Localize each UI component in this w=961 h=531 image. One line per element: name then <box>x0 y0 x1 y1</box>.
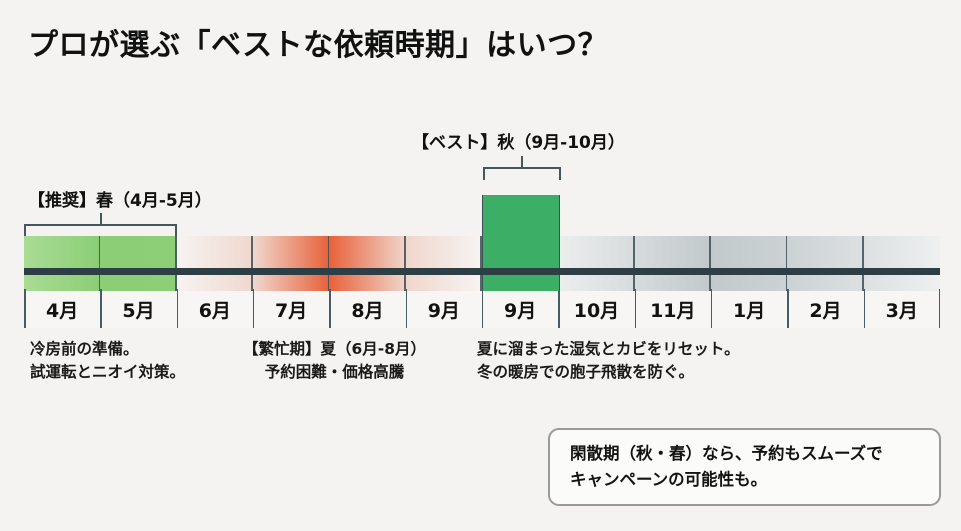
month-cell-aug: 8月 <box>329 291 405 328</box>
band-cell-jun <box>177 236 253 291</box>
band-cell-nov <box>635 236 711 291</box>
month-cell-sep-summer: 9月 <box>406 291 482 328</box>
summer-note-line1: 【繁忙期】夏（6月-8月） <box>243 338 426 361</box>
summer-note: 【繁忙期】夏（6月-8月） 予約困難・価格高騰 <box>243 338 426 385</box>
band-cell-apr <box>24 236 100 291</box>
month-cell-jul: 7月 <box>253 291 329 328</box>
timeline: 4月 5月 6月 7月 8月 9月 9月 10月 11月 1月 2月 3月 <box>24 236 940 328</box>
month-cell-sep-best: 9月 <box>482 291 558 328</box>
spring-note: 冷房前の準備。 試運転とニオイ対策。 <box>30 338 185 385</box>
callout-line2: キャンペーンの可能性も。 <box>570 467 939 493</box>
band-cell-may <box>100 236 176 291</box>
summer-note-line2: 予約困難・価格高騰 <box>243 361 426 384</box>
spring-note-line2: 試運転とニオイ対策。 <box>30 361 185 384</box>
band-cell-jul <box>253 236 329 291</box>
page-title: プロが選ぶ「ベストな依頼時期」はいつ？ <box>28 20 608 64</box>
band-cell-feb <box>787 236 863 291</box>
spring-season-label: 【推奨】春（4月-5月） <box>28 186 212 211</box>
callout-line1: 閑散期（秋・春）なら、予約もスムーズで <box>570 441 939 467</box>
month-cell-oct: 10月 <box>558 291 634 328</box>
offseason-callout-box: 閑散期（秋・春）なら、予約もスムーズで キャンペーンの可能性も。 <box>548 428 941 506</box>
month-cell-mar: 3月 <box>864 291 940 328</box>
best-bracket <box>483 167 561 180</box>
month-label-row: 4月 5月 6月 7月 8月 9月 9月 10月 11月 1月 2月 3月 <box>24 291 940 328</box>
band-cell-aug <box>329 236 405 291</box>
spring-note-line1: 冷房前の準備。 <box>30 338 185 361</box>
band-cell-oct <box>558 236 634 291</box>
autumn-note: 夏に溜まった湿気とカビをリセット。 冬の暖房での胞子飛散を防ぐ。 <box>477 338 740 385</box>
spring-bracket-tick <box>100 213 102 226</box>
best-bracket-tick <box>521 156 523 169</box>
band-cell-sep-summer <box>406 236 482 291</box>
month-cell-nov: 11月 <box>635 291 711 328</box>
autumn-note-line2: 冬の暖房での胞子飛散を防ぐ。 <box>477 361 740 384</box>
best-season-label: 【ベスト】秋（9月-10月） <box>412 128 625 153</box>
best-month-bar <box>482 195 560 291</box>
month-cell-jun: 6月 <box>177 291 253 328</box>
month-cell-may: 5月 <box>100 291 176 328</box>
timeline-axis <box>24 268 940 275</box>
autumn-note-line1: 夏に溜まった湿気とカビをリセット。 <box>477 338 740 361</box>
month-cell-feb: 2月 <box>787 291 863 328</box>
band-cell-jan <box>711 236 787 291</box>
month-cell-apr: 4月 <box>24 291 100 328</box>
month-cell-jan: 1月 <box>711 291 787 328</box>
band-cell-mar <box>864 236 940 291</box>
